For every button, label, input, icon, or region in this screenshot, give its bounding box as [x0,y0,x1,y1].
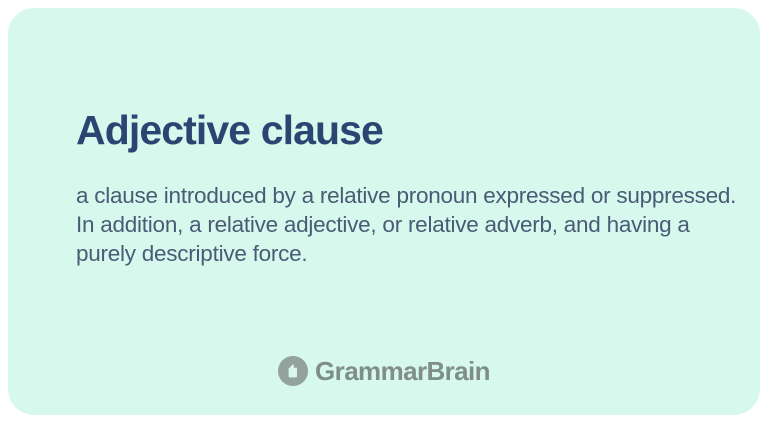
page-title: Adjective clause [76,105,383,155]
definition-body-text: a clause introduced by a relative pronou… [76,181,738,268]
brand-name-label: GrammarBrain [315,356,490,386]
brand-logo[interactable]: GrammarBrain [8,356,760,386]
grammarbrain-logo-icon [278,356,308,386]
definition-card-content: Adjective clause a clause introduced by … [68,8,720,415]
definition-card: Adjective clause a clause introduced by … [8,8,760,415]
